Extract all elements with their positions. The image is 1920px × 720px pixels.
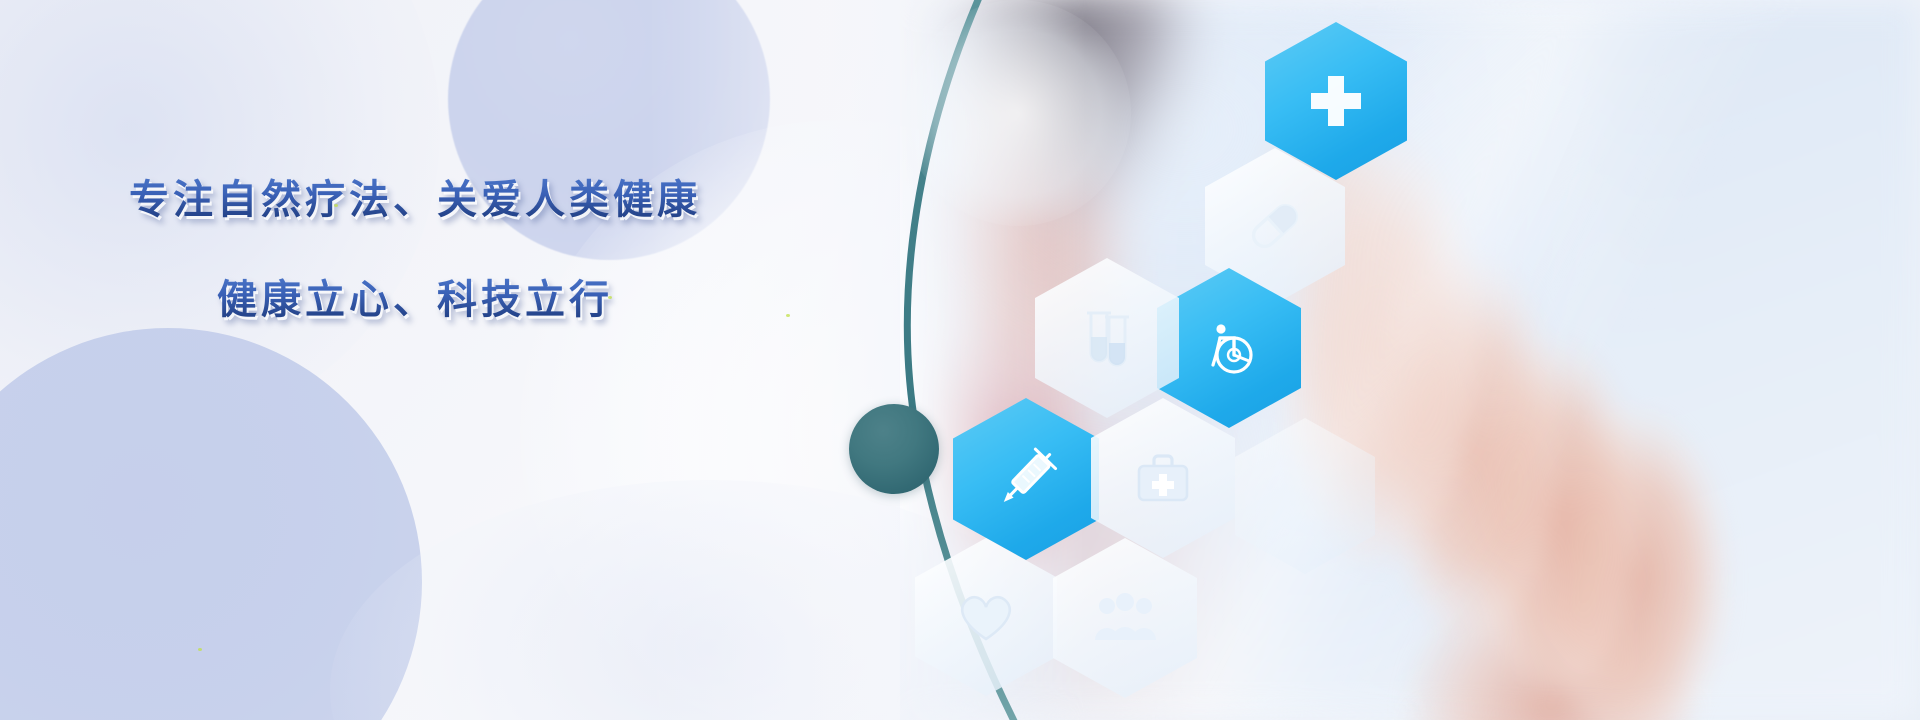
speck-accent-1 bbox=[334, 204, 338, 207]
speck-accent-2 bbox=[608, 296, 612, 299]
headline-line-2: 健康立心、科技立行 bbox=[217, 276, 613, 324]
speck-accent-3 bbox=[786, 314, 790, 317]
headline-line-1: 专注自然疗法、关爱人类健康 bbox=[129, 176, 701, 224]
speck-accent-4 bbox=[198, 648, 202, 651]
hexagon-icon-cluster bbox=[905, 0, 1505, 720]
medical-bag-icon bbox=[1091, 398, 1235, 558]
people-group-icon bbox=[1053, 538, 1197, 698]
test-tubes-icon bbox=[1035, 258, 1179, 418]
headline-block: 专注自然疗法、关爱人类健康 健康立心、科技立行 bbox=[0, 176, 830, 324]
cross-glow-halo bbox=[905, 0, 1131, 226]
heart-icon bbox=[915, 538, 1057, 696]
syringe-icon bbox=[953, 398, 1099, 560]
hexagon-blank-icon bbox=[1235, 418, 1375, 574]
hero-banner: 专注自然疗法、关爱人类健康 健康立心、科技立行 bbox=[0, 0, 1920, 720]
